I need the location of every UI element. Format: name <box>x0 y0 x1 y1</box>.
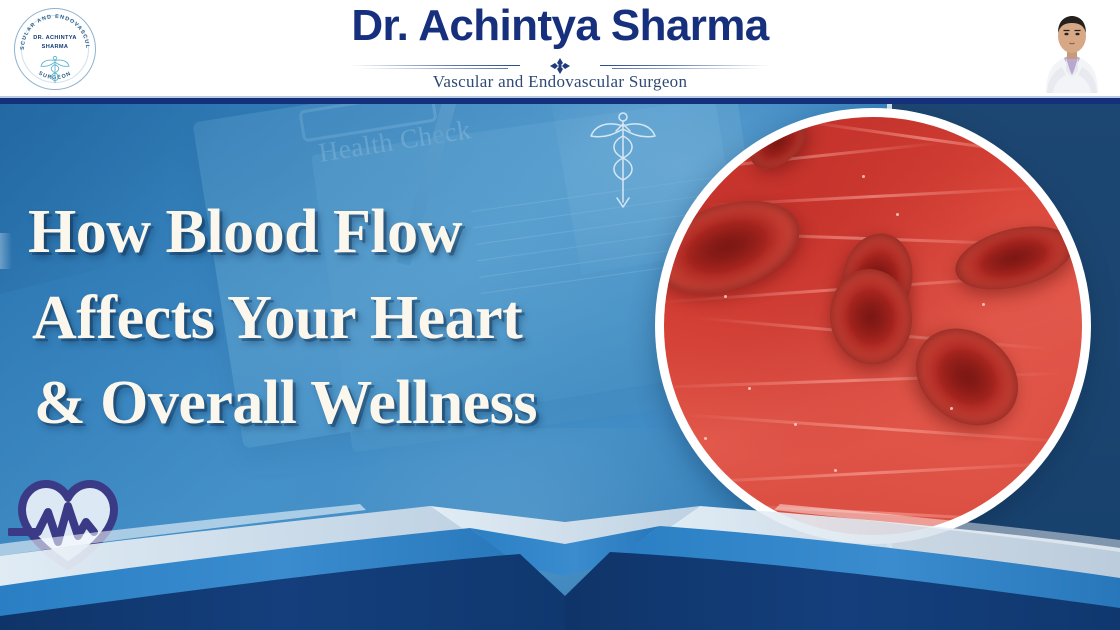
headline-line-3: & Overall Wellness <box>34 361 678 447</box>
headline-line-1: How Blood Flow <box>28 190 678 276</box>
page-title: Dr. Achintya Sharma <box>0 3 1120 49</box>
left-edge-accent <box>0 233 12 269</box>
site-header: VASCULAR AND ENDOVASCULAR SURGEON DR. AC… <box>0 0 1120 98</box>
banner-top-strip <box>0 98 1120 104</box>
heart-pulse-icon <box>8 470 128 572</box>
blood-cells-photo <box>664 117 1082 535</box>
banner-section: Health Check <box>0 98 1120 630</box>
headline-block: How Blood Flow Affects Your Heart & Over… <box>28 190 678 447</box>
divider-rule2-left <box>358 68 508 69</box>
doctor-portrait <box>1036 5 1108 93</box>
divider-rule-right <box>600 65 770 66</box>
divider-rule-left <box>350 65 520 66</box>
banner-canvas: VASCULAR AND ENDOVASCULAR SURGEON DR. AC… <box>0 0 1120 630</box>
headline-line-2: Affects Your Heart <box>32 276 678 362</box>
red-blood-cells-image <box>655 108 1091 544</box>
divider-rule2-right <box>612 68 762 69</box>
header-tagline: Vascular and Endovascular Surgeon <box>0 72 1120 92</box>
